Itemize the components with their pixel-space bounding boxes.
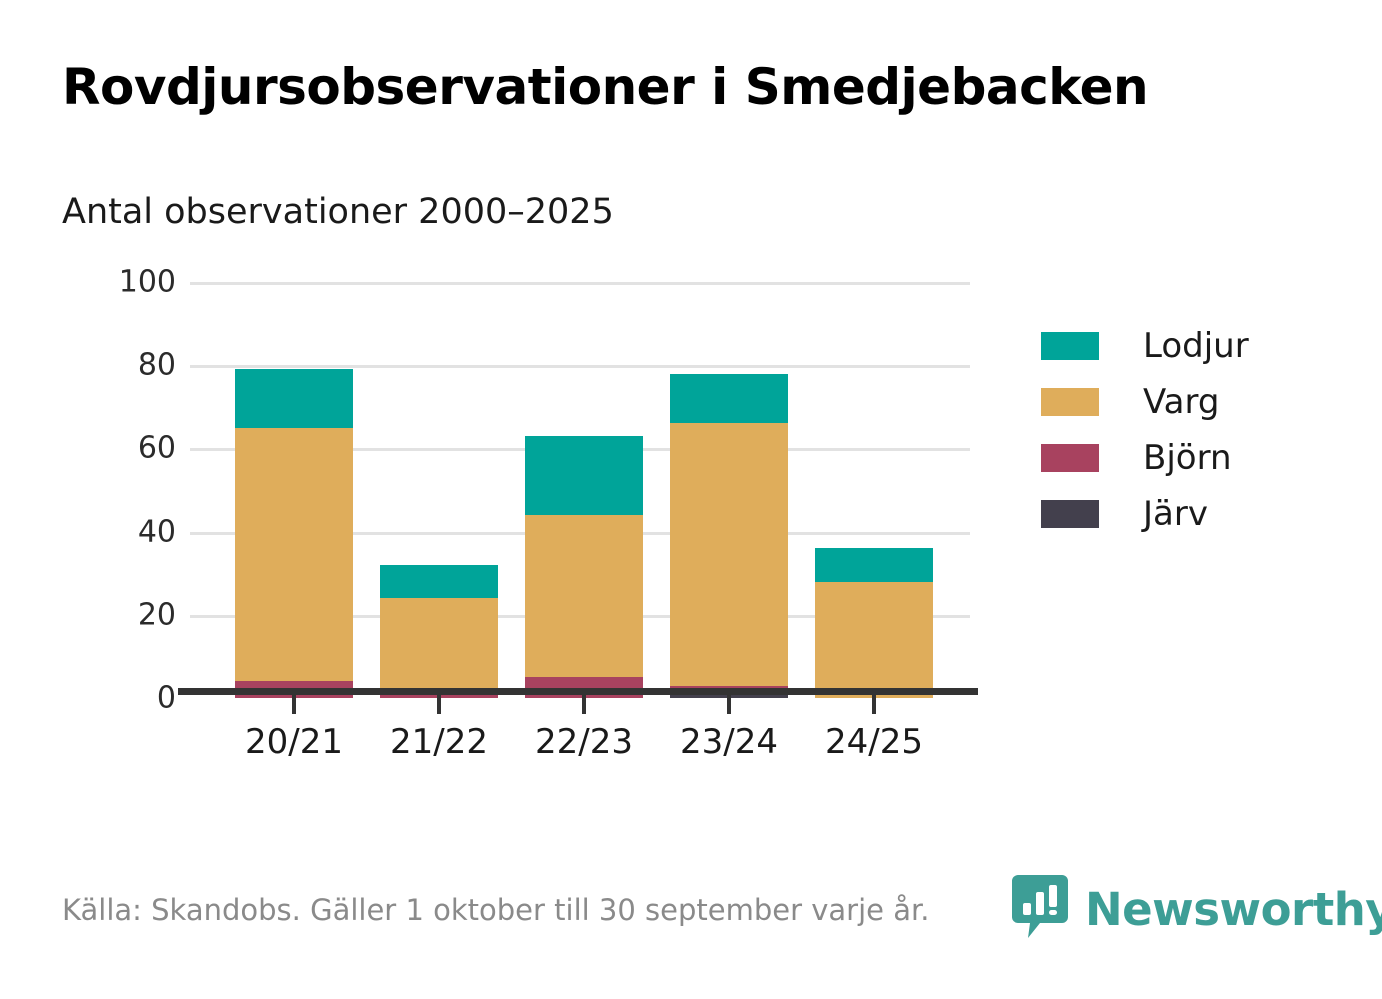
source-note: Källa: Skandobs. Gäller 1 oktober till 3… <box>62 893 929 927</box>
chart-legend: LodjurVargBjörnJärv <box>1041 318 1249 542</box>
page-title: Rovdjursobservationer i Smedjebacken <box>62 58 1148 116</box>
y-axis-tick-label: 80 <box>76 348 176 383</box>
x-axis-tick-mark <box>727 695 731 714</box>
logo-text: Newsworthy <box>1085 883 1382 936</box>
x-axis-tick-label: 24/25 <box>774 722 974 762</box>
x-axis-tick-mark <box>582 695 586 714</box>
bar-segment[interactable] <box>235 369 353 427</box>
x-axis-tick-mark <box>437 695 441 714</box>
legend-item[interactable]: Lodjur <box>1041 318 1249 374</box>
bar-stack[interactable] <box>235 282 353 698</box>
legend-swatch <box>1041 500 1099 528</box>
y-axis: 020406080100 <box>60 0 176 999</box>
bar-stack[interactable] <box>670 282 788 698</box>
legend-swatch <box>1041 332 1099 360</box>
legend-label: Lodjur <box>1143 326 1249 366</box>
x-axis-line <box>178 688 978 695</box>
bar-segment[interactable] <box>815 582 933 698</box>
y-axis-tick-label: 60 <box>76 431 176 466</box>
x-axis-tick-mark <box>872 695 876 714</box>
newsworthy-logo: Newsworthy <box>1012 875 1382 943</box>
bar-segment[interactable] <box>670 423 788 685</box>
legend-swatch <box>1041 444 1099 472</box>
legend-label: Björn <box>1143 438 1232 478</box>
bar-segment[interactable] <box>525 515 643 677</box>
bar-segment[interactable] <box>380 598 498 690</box>
y-axis-tick-label: 100 <box>76 265 176 300</box>
bar-segment[interactable] <box>235 428 353 682</box>
y-axis-tick-label: 40 <box>76 514 176 549</box>
x-axis-tick-mark <box>292 695 296 714</box>
bar-segment[interactable] <box>815 548 933 581</box>
y-axis-tick-label: 0 <box>76 681 176 716</box>
legend-label: Järv <box>1143 494 1208 534</box>
legend-item[interactable]: Varg <box>1041 374 1249 430</box>
legend-swatch <box>1041 388 1099 416</box>
legend-item[interactable]: Järv <box>1041 486 1249 542</box>
bar-chart-bubble-icon <box>1012 875 1068 943</box>
legend-label: Varg <box>1143 382 1219 422</box>
bar-segment[interactable] <box>380 565 498 598</box>
bar-segment[interactable] <box>670 374 788 424</box>
bar-stack[interactable] <box>815 282 933 698</box>
bar-segment[interactable] <box>525 436 643 515</box>
bar-stack[interactable] <box>380 282 498 698</box>
plot-area <box>190 282 970 698</box>
bar-stack[interactable] <box>525 282 643 698</box>
y-axis-tick-label: 20 <box>76 597 176 632</box>
legend-item[interactable]: Björn <box>1041 430 1249 486</box>
